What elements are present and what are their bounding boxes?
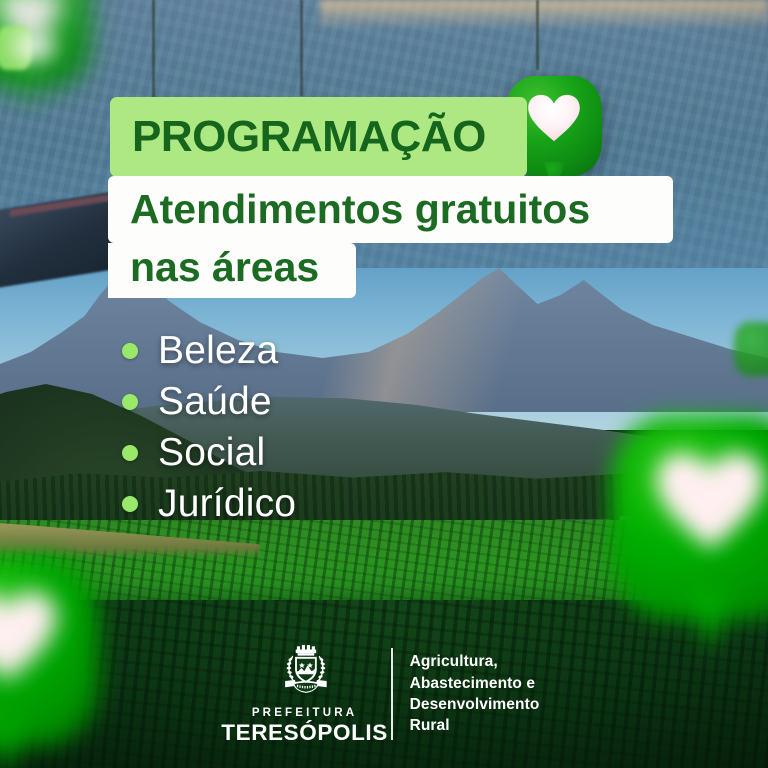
heart-balloon-icon bbox=[610, 415, 768, 620]
kicker-text: PROGRAMAÇÃO bbox=[110, 115, 486, 159]
department-line-3: Desenvolvimento bbox=[410, 694, 540, 715]
heart-shape bbox=[654, 450, 766, 553]
list-item: Beleza bbox=[122, 325, 296, 376]
department-name: Agricultura, Abastecimento e Desenvolvim… bbox=[410, 651, 540, 737]
list-item: Social bbox=[122, 427, 296, 478]
fence-pole-2 bbox=[300, 0, 303, 96]
subtitle-text-line-1: Atendimentos gratuitos bbox=[108, 189, 590, 230]
footer-divider bbox=[391, 648, 393, 740]
heart-shape bbox=[527, 93, 581, 143]
green-chip-decoration-right bbox=[734, 322, 768, 376]
subtitle-band-line-1: Atendimentos gratuitos bbox=[108, 176, 673, 243]
prefeitura-brand-lockup: PREFEITURA TERESÓPOLIS bbox=[229, 642, 381, 746]
bullet-dot-icon bbox=[122, 394, 138, 410]
fence-pole-3 bbox=[536, 0, 539, 70]
department-line-4: Rural bbox=[410, 715, 540, 736]
bullet-dot-icon bbox=[122, 445, 138, 461]
kicker-band: PROGRAMAÇÃO bbox=[110, 97, 527, 177]
list-item: Saúde bbox=[122, 376, 296, 427]
service-area-label: Social bbox=[158, 433, 265, 472]
white-glow-top-left bbox=[2, 22, 66, 72]
footer-bar: PREFEITURA TERESÓPOLIS Agricultura, Abas… bbox=[0, 642, 768, 746]
brand-prefix-label: PREFEITURA bbox=[252, 707, 357, 719]
coat-of-arms-icon bbox=[274, 642, 336, 704]
list-item: Jurídico bbox=[122, 478, 296, 529]
poster-canvas: PROGRAMAÇÃO Atendimentos gratuitos nas á… bbox=[0, 0, 768, 768]
service-area-label: Saúde bbox=[158, 382, 272, 421]
bullet-dot-icon bbox=[122, 343, 138, 359]
department-line-2: Abastecimento e bbox=[410, 673, 540, 694]
subtitle-band-line-2: nas áreas bbox=[108, 243, 356, 298]
service-area-label: Beleza bbox=[158, 331, 278, 370]
brand-city-label: TERESÓPOLIS bbox=[221, 720, 388, 746]
department-line-1: Agricultura, bbox=[410, 651, 540, 672]
bullet-dot-icon bbox=[122, 496, 138, 512]
top-sunlit-horizon bbox=[320, 0, 768, 30]
service-areas-list: Beleza Saúde Social Jurídico bbox=[122, 325, 296, 529]
subtitle-text-line-2: nas áreas bbox=[108, 243, 319, 288]
service-area-label: Jurídico bbox=[158, 484, 296, 523]
